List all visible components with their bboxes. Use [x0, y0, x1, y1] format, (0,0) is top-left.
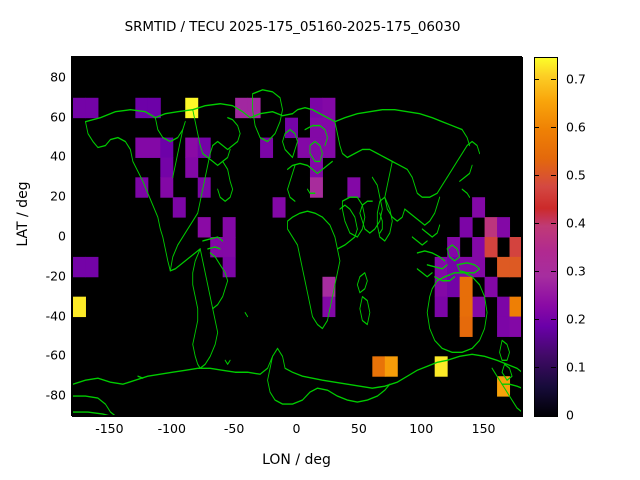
x-tick-label: -50 — [224, 421, 244, 436]
colorbar-tick-mark — [534, 79, 539, 80]
x-tick-label: 0 — [293, 421, 301, 436]
figure-canvas: SRMTID / TECU 2025-175_05160-2025-175_06… — [0, 0, 640, 480]
x-axis-label: LON / deg — [72, 452, 521, 468]
y-tick-label: -60 — [46, 348, 66, 363]
y-tick-label: 0 — [58, 229, 66, 244]
colorbar-tick-mark-right — [551, 79, 556, 80]
colorbar-tick-mark-right — [551, 127, 556, 128]
colorbar-tick-mark-right — [551, 271, 556, 272]
colorbar-tick-mark — [534, 319, 539, 320]
colorbar-tick-label: 0.2 — [566, 311, 586, 326]
colorbar-tick-label: 0.1 — [566, 359, 586, 374]
colorbar-tick-mark — [534, 175, 539, 176]
y-tick-label: -80 — [46, 388, 66, 403]
heatmap-plot-area[interactable] — [72, 57, 523, 417]
colorbar-tick-mark — [534, 223, 539, 224]
y-tick-label: 80 — [50, 69, 66, 84]
colorbar-tick-label: 0.4 — [566, 215, 586, 230]
y-tick-label: -40 — [46, 308, 66, 323]
colorbar-tick-mark-right — [551, 175, 556, 176]
coastline-layer — [73, 58, 522, 416]
y-axis-label: LAT / deg — [15, 154, 31, 274]
colorbar-tick-mark-right — [551, 319, 556, 320]
colorbar-tick-mark-right — [551, 367, 556, 368]
x-tick-label: -100 — [158, 421, 186, 436]
colorbar[interactable] — [534, 57, 558, 417]
x-tick-label: 150 — [472, 421, 496, 436]
colorbar-tick-label: 0.6 — [566, 119, 586, 134]
colorbar-tick-mark — [534, 367, 539, 368]
y-tick-label: -20 — [46, 268, 66, 283]
y-tick-label: 20 — [50, 189, 66, 204]
colorbar-gradient — [535, 58, 557, 416]
x-tick-label: -150 — [95, 421, 123, 436]
colorbar-tick-label: 0.3 — [566, 263, 586, 278]
colorbar-tick-mark-right — [551, 223, 556, 224]
colorbar-tick-label: 0 — [566, 408, 574, 423]
chart-title: SRMTID / TECU 2025-175_05160-2025-175_06… — [0, 19, 585, 35]
colorbar-tick-label: 0.7 — [566, 71, 586, 86]
colorbar-tick-label: 0.5 — [566, 167, 586, 182]
colorbar-tick-mark — [534, 271, 539, 272]
x-tick-label: 50 — [351, 421, 367, 436]
y-tick-label: 60 — [50, 109, 66, 124]
colorbar-tick-mark — [534, 127, 539, 128]
y-tick-label: 40 — [50, 149, 66, 164]
x-tick-label: 100 — [409, 421, 433, 436]
